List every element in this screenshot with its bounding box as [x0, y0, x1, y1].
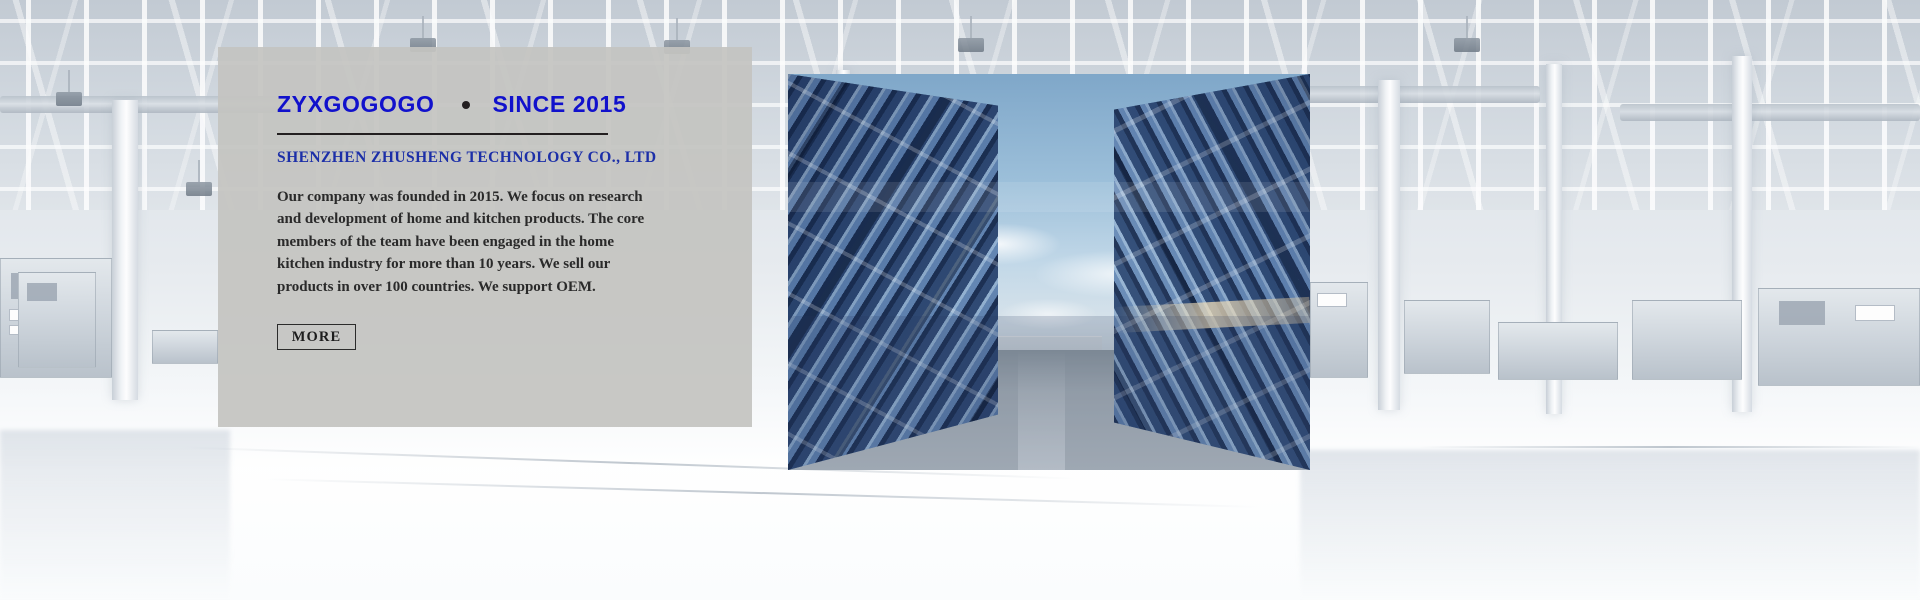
ceiling-lamp: [1454, 38, 1480, 52]
factory-machine: [1498, 322, 1618, 380]
photo-tone-band-lower: [788, 316, 1310, 470]
floor-reflection: [0, 430, 230, 600]
factory-machine: [1404, 300, 1490, 374]
floor-reflection: [1300, 450, 1920, 600]
structural-pillar: [112, 100, 138, 400]
about-content-panel: ZYXGOGOGO SINCE 2015 SHENZHEN ZHUSHENG T…: [218, 47, 752, 427]
about-paragraph: Our company was founded in 2015. We focu…: [277, 186, 662, 298]
headline: ZYXGOGOGO SINCE 2015: [277, 93, 752, 116]
factory-machine: [152, 330, 218, 364]
building-photo: [788, 74, 1310, 470]
divider-rule: [277, 133, 608, 135]
ceiling-lamp: [186, 182, 212, 196]
floor-joint-line: [1420, 446, 1920, 448]
photo-tone-band-upper: [788, 182, 1310, 212]
factory-machine: [18, 272, 96, 368]
since-label: SINCE 2015: [492, 93, 626, 116]
ceiling-lamp: [56, 92, 82, 106]
factory-machine: [1310, 282, 1368, 378]
about-us-banner: ZYXGOGOGO SINCE 2015 SHENZHEN ZHUSHENG T…: [0, 0, 1920, 600]
floor-joint-line: [260, 478, 1260, 508]
ceiling-lamp: [958, 38, 984, 52]
ceiling-duct: [1620, 104, 1920, 121]
more-button[interactable]: MORE: [277, 324, 356, 350]
factory-machine: [1758, 288, 1920, 386]
company-subtitle: SHENZHEN ZHUSHENG TECHNOLOGY CO., LTD: [277, 149, 752, 167]
factory-machine: [1632, 300, 1742, 380]
brand-name: ZYXGOGOGO: [277, 93, 434, 116]
structural-pillar: [1378, 80, 1400, 410]
ceiling-duct: [1290, 86, 1540, 103]
bullet-dot-icon: [462, 101, 470, 109]
